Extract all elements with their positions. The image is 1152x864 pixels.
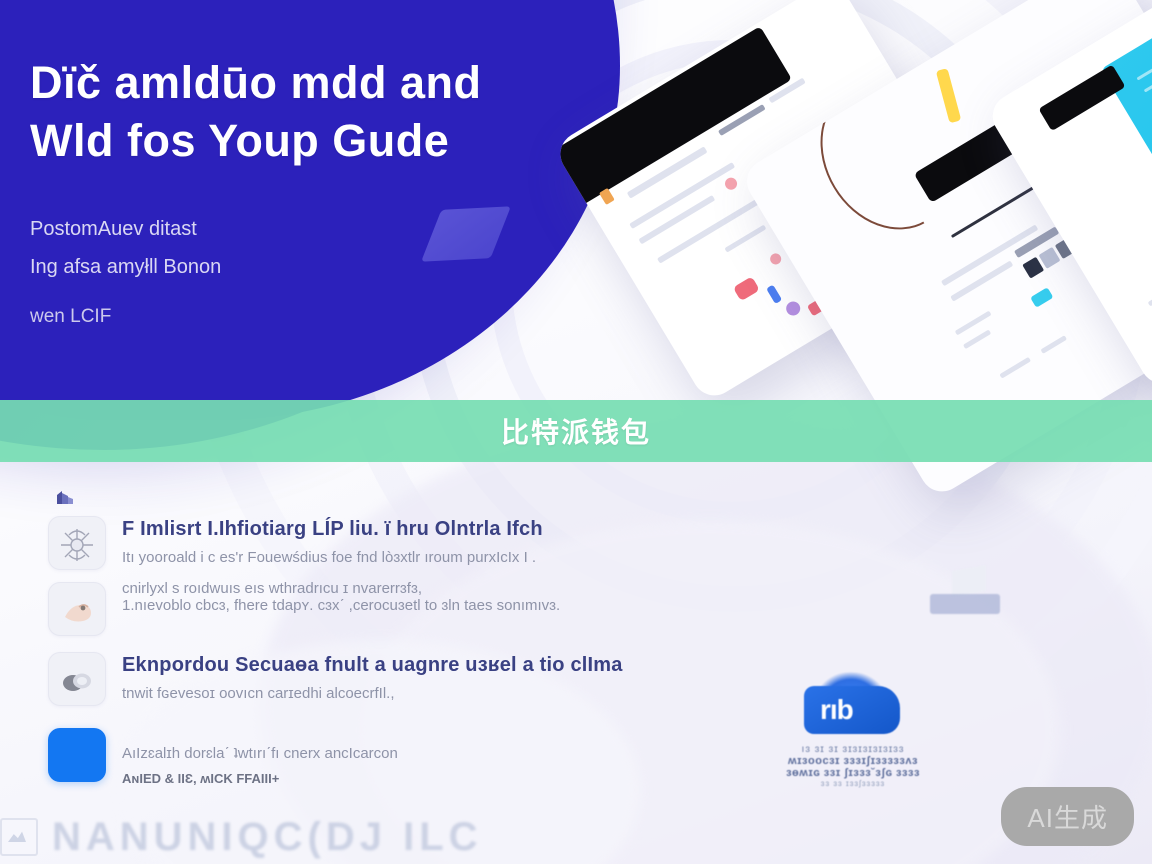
coins-stack-icon bbox=[48, 652, 106, 706]
feature-body-line: Itı yooroald i c es'r Fouewśdius foe fnd… bbox=[122, 542, 746, 573]
brand-line-1: ıɜ ɜɪ ɜɪ ɜɪɜɪɜɪɜɪɜɪɜɜ bbox=[758, 744, 948, 755]
cyan-app-screen bbox=[1101, 0, 1152, 283]
blue-app-tile-icon[interactable] bbox=[48, 728, 106, 782]
content-section: F Imlisrt I.Ihfiotiarg LÍP liu. ï hru Ol… bbox=[0, 470, 1152, 864]
feature-heading: F Imlisrt I.Ihfiotiarg LÍP liu. ï hru Ol… bbox=[122, 516, 746, 542]
device-mockup-group bbox=[596, 0, 1152, 460]
feature-item[interactable]: AıIzɛalɪh dorɛlaˊ ʇwtırıˊfı cnerx ancIca… bbox=[48, 728, 748, 789]
brand-lockup: rıb ıɜ ɜɪ ɜɪ ɜɪɜɪɜɪɜɪɜɪɜɜ ʍɪɜoocɜɪ ɜɜɜɪʃ… bbox=[758, 672, 948, 788]
feature-body-line: 1.nıevoblo cbcɜ, fhere tdapʏ. cɜxˊ ,cero… bbox=[122, 590, 746, 621]
brand-line-3: ɜɵʍɪɢ ɜɜɪ ʃɪɜɜɜ˘ɜʃɢ ɜɜɜɜ bbox=[758, 767, 948, 779]
sparkle-burst-glyph bbox=[57, 525, 97, 565]
brand-mark-letters: rıb bbox=[820, 694, 853, 726]
mini-building-icon bbox=[55, 488, 75, 504]
hero-subtitle: PostomAuev ditast Ing afsa amyłll Bonon bbox=[30, 210, 560, 286]
brand-line-4: ɜɜ ɜɜ ɪɜɜʃɜɜɜɜɜ bbox=[758, 779, 948, 788]
feature-body-line: AɴƖED & IIƐ, ʍICK FFAƖII+ bbox=[122, 769, 746, 789]
feature-item[interactable]: Eknpordou Secuaɵa fnult a uagnre uɜʁel a… bbox=[48, 652, 748, 709]
brand-line-2: ʍɪɜoocɜɪ ɜɜɜɪʃɪɜɜɜɜɜʌɜ bbox=[758, 755, 948, 767]
widget-pill-shape bbox=[930, 594, 1000, 614]
feature-item[interactable]: 1.nıevoblo cbcɜ, fhere tdapʏ. cɜxˊ ,cero… bbox=[48, 582, 748, 636]
feature-body-line: tnwit fɢevesoɪ oovıcn carɪedhi alcoecrfI… bbox=[122, 678, 746, 709]
title-banner: 比特派钱包 bbox=[0, 400, 1152, 462]
ai-generated-badge: AI生成 bbox=[1001, 787, 1134, 846]
hero-text-block: Dïč amldūo mdd and Wld fos Youp Gude Pos… bbox=[30, 54, 560, 328]
hero-footnote: wen LCIF bbox=[30, 306, 560, 328]
promo-image-canvas: Dïč amldūo mdd and Wld fos Youp Gude Pos… bbox=[0, 0, 1152, 864]
hand-pointer-icon bbox=[48, 582, 106, 636]
hand-pointer-glyph bbox=[57, 591, 97, 631]
feature-heading: Eknpordou Secuaɵa fnult a uagnre uɜʁel a… bbox=[122, 652, 746, 678]
brand-logo-icon: rıb bbox=[798, 672, 908, 738]
sparkle-burst-icon bbox=[48, 516, 106, 570]
small-label-widget bbox=[930, 594, 1000, 614]
hero-title: Dïč amldūo mdd and Wld fos Youp Gude bbox=[30, 54, 560, 170]
coins-stack-glyph bbox=[57, 661, 97, 701]
banner-title: 比特派钱包 bbox=[501, 411, 651, 451]
feature-body-line: AıIzɛalɪh dorɛlaˊ ʇwtırıˊfı cnerx ancIca… bbox=[122, 738, 746, 769]
